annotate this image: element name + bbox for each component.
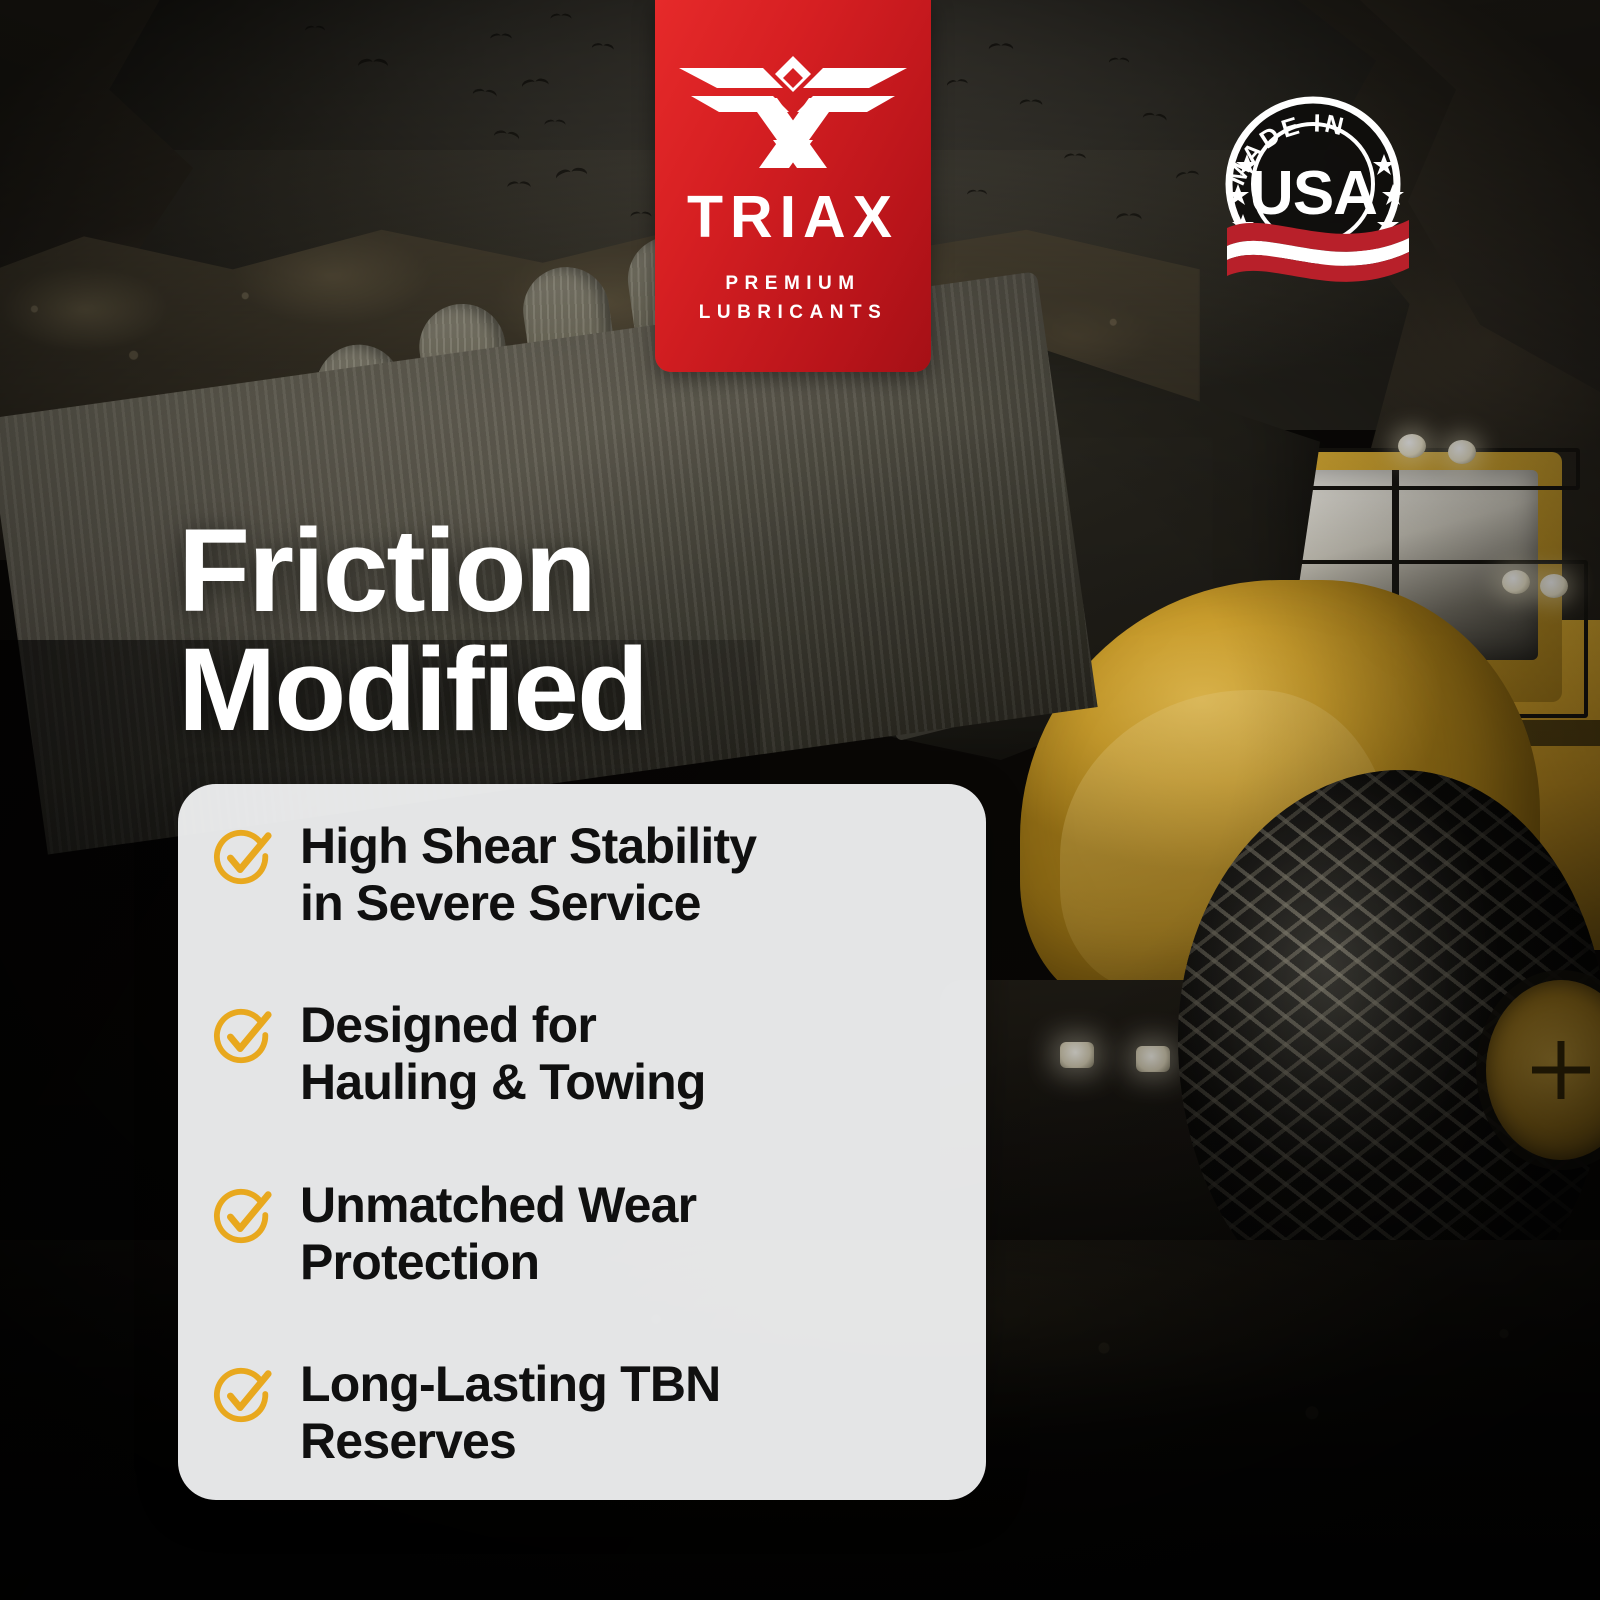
feature-item: Designed for Hauling & Towing — [212, 997, 946, 1111]
promo-graphic: TRIAX PREMIUM LUBRICANTS MADE IN US — [0, 0, 1600, 1600]
feature-line-2: Reserves — [300, 1413, 720, 1470]
feature-list-card: High Shear Stability in Severe Service D… — [178, 784, 986, 1500]
feature-text: Designed for Hauling & Towing — [300, 997, 706, 1111]
brand-tagline: PREMIUM LUBRICANTS — [699, 269, 888, 328]
brand-logo-banner: TRIAX PREMIUM LUBRICANTS — [655, 0, 931, 372]
feature-line-2: Hauling & Towing — [300, 1054, 706, 1111]
check-circle-icon — [212, 1005, 274, 1067]
badge-main-text: USA — [1249, 159, 1377, 228]
eagle-icon — [677, 52, 909, 182]
feature-item: Long-Lasting TBN Reserves — [212, 1356, 946, 1470]
page-title: Friction Modified — [178, 512, 998, 750]
feature-text: Long-Lasting TBN Reserves — [300, 1356, 720, 1470]
feature-text: High Shear Stability in Severe Service — [300, 818, 756, 932]
feature-line-1: Unmatched Wear — [300, 1177, 696, 1234]
brand-wordmark: TRIAX — [687, 188, 899, 247]
feature-line-2: Protection — [300, 1234, 696, 1291]
check-circle-icon — [212, 826, 274, 888]
headline-line-1: Friction — [178, 512, 998, 631]
check-circle-icon — [212, 1185, 274, 1247]
headline-line-2: Modified — [178, 631, 998, 750]
feature-item: High Shear Stability in Severe Service — [212, 818, 946, 932]
feature-line-2: in Severe Service — [300, 875, 756, 932]
feature-line-1: Long-Lasting TBN — [300, 1356, 720, 1413]
tagline-line-2: LUBRICANTS — [699, 298, 888, 327]
check-circle-icon — [212, 1364, 274, 1426]
feature-text: Unmatched Wear Protection — [300, 1177, 696, 1291]
feature-line-1: High Shear Stability — [300, 818, 756, 875]
tagline-line-1: PREMIUM — [699, 269, 888, 298]
feature-item: Unmatched Wear Protection — [212, 1177, 946, 1291]
made-in-usa-badge: MADE IN USA — [1213, 88, 1418, 288]
feature-line-1: Designed for — [300, 997, 706, 1054]
